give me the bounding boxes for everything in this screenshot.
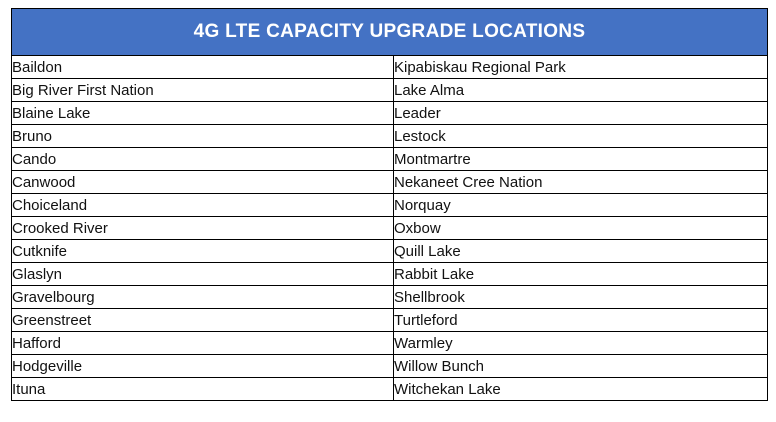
table-body: BaildonKipabiskau Regional ParkBig River… [12,56,768,401]
location-cell-right: Shellbrook [394,286,768,309]
location-cell-right: Turtleford [394,309,768,332]
location-cell-left: Cando [12,148,394,171]
table-row: BaildonKipabiskau Regional Park [12,56,768,79]
location-cell-left: Ituna [12,378,394,401]
table-row: CutknifeQuill Lake [12,240,768,263]
location-cell-left: Canwood [12,171,394,194]
location-cell-right: Quill Lake [394,240,768,263]
table-row: BrunoLestock [12,125,768,148]
table-row: ItunaWitchekan Lake [12,378,768,401]
location-cell-right: Witchekan Lake [394,378,768,401]
location-cell-right: Lake Alma [394,79,768,102]
location-cell-left: Crooked River [12,217,394,240]
location-cell-left: Hafford [12,332,394,355]
table-row: ChoicelandNorquay [12,194,768,217]
table-row: HodgevilleWillow Bunch [12,355,768,378]
location-cell-left: Cutknife [12,240,394,263]
location-cell-right: Montmartre [394,148,768,171]
location-cell-left: Baildon [12,56,394,79]
page-root: 4G LTE CAPACITY UPGRADE LOCATIONS Baildo… [0,0,776,422]
table-title: 4G LTE CAPACITY UPGRADE LOCATIONS [12,9,768,56]
location-cell-right: Oxbow [394,217,768,240]
table-row: GravelbourgShellbrook [12,286,768,309]
location-cell-left: Big River First Nation [12,79,394,102]
table-title-row: 4G LTE CAPACITY UPGRADE LOCATIONS [12,9,768,56]
location-cell-right: Kipabiskau Regional Park [394,56,768,79]
location-cell-left: Greenstreet [12,309,394,332]
table-row: GlaslynRabbit Lake [12,263,768,286]
table-row: CanwoodNekaneet Cree Nation [12,171,768,194]
location-cell-left: Bruno [12,125,394,148]
location-cell-right: Nekaneet Cree Nation [394,171,768,194]
location-cell-left: Choiceland [12,194,394,217]
location-cell-right: Norquay [394,194,768,217]
location-cell-left: Glaslyn [12,263,394,286]
table-row: GreenstreetTurtleford [12,309,768,332]
table-row: HaffordWarmley [12,332,768,355]
location-cell-right: Willow Bunch [394,355,768,378]
location-cell-right: Lestock [394,125,768,148]
table-row: Crooked RiverOxbow [12,217,768,240]
table-row: Blaine LakeLeader [12,102,768,125]
table-row: CandoMontmartre [12,148,768,171]
location-cell-right: Leader [394,102,768,125]
location-cell-left: Gravelbourg [12,286,394,309]
location-cell-left: Hodgeville [12,355,394,378]
locations-table: 4G LTE CAPACITY UPGRADE LOCATIONS Baildo… [11,8,768,401]
table-row: Big River First NationLake Alma [12,79,768,102]
location-cell-left: Blaine Lake [12,102,394,125]
location-cell-right: Rabbit Lake [394,263,768,286]
location-cell-right: Warmley [394,332,768,355]
table-header: 4G LTE CAPACITY UPGRADE LOCATIONS [12,9,768,56]
